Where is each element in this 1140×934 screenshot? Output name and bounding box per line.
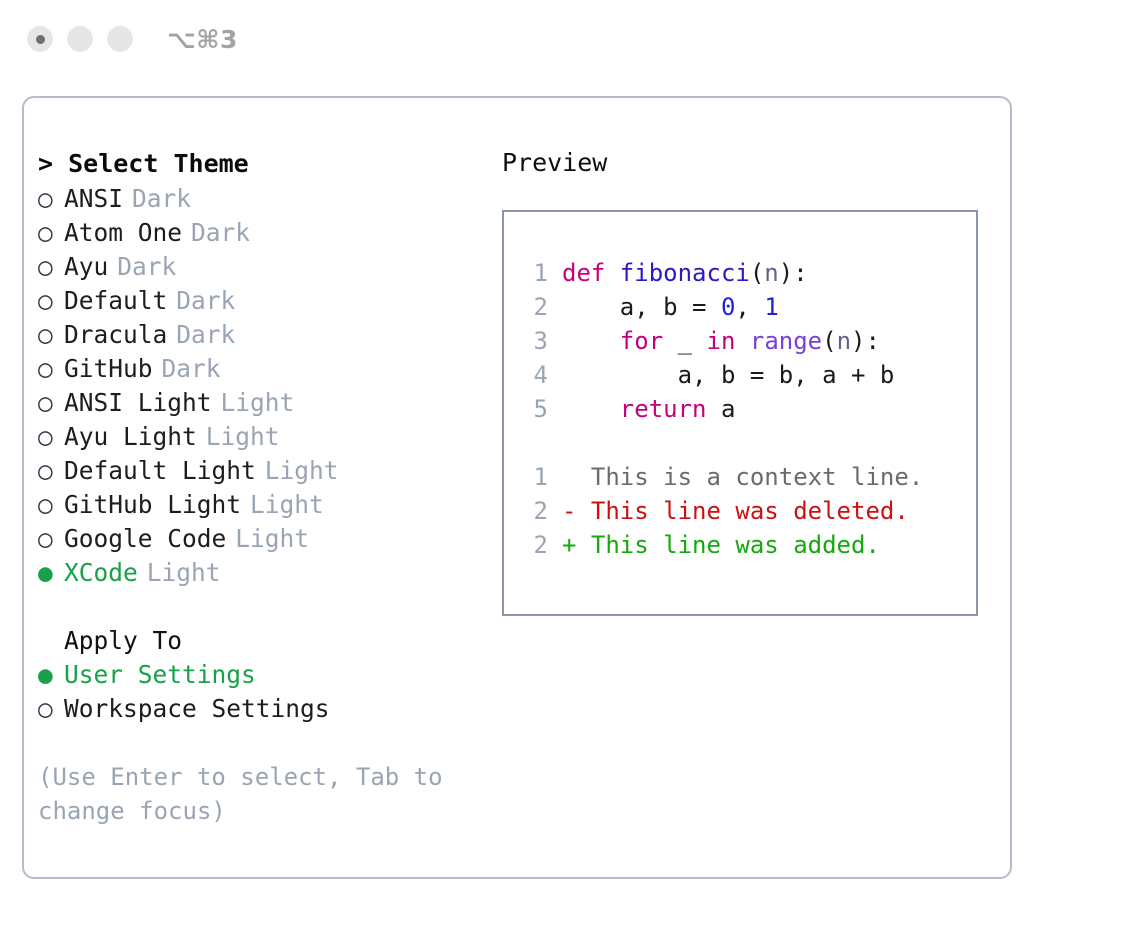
theme-option-default[interactable]: ○DefaultDark [38,284,508,318]
radio-selected-icon: ● [38,556,64,590]
app-window: ⌥⌘3 > Select Theme ○ANSIDark○Atom OneDar… [0,0,1140,934]
radio-unselected-icon: ○ [38,454,64,488]
line-number: 5 [520,392,548,426]
theme-name: ANSI Light [64,386,212,420]
radio-unselected-icon: ○ [38,488,64,522]
apply-to-label: Workspace Settings [64,692,330,726]
code-token: in [707,327,736,355]
theme-variant-tag: Light [250,488,324,522]
theme-option-github[interactable]: ○GitHubDark [38,352,508,386]
theme-variant-tag: Light [235,522,309,556]
diff-marker [562,463,591,491]
radio-unselected-icon: ○ [38,318,64,352]
theme-name: XCode [64,556,138,590]
code-token [735,327,749,355]
theme-variant-tag: Dark [176,318,235,352]
apply-to-label: User Settings [64,658,256,692]
select-theme-header: > Select Theme [38,146,508,182]
theme-variant-tag: Light [221,386,295,420]
theme-option-atom-one[interactable]: ○Atom OneDark [38,216,508,250]
radio-unselected-icon: ○ [38,522,64,556]
code-token [562,327,620,355]
code-token: return [620,395,707,423]
content-panel: > Select Theme ○ANSIDark○Atom OneDark○Ay… [22,96,1012,879]
theme-variant-tag: Light [147,556,221,590]
theme-option-ansi[interactable]: ○ANSIDark [38,182,508,216]
theme-option-xcode[interactable]: ●XCodeLight [38,556,508,590]
radio-unselected-icon: ○ [38,386,64,420]
theme-variant-tag: Light [206,420,280,454]
code-token: range [750,327,822,355]
theme-variant-tag: Dark [117,250,176,284]
theme-variant-tag: Dark [162,352,221,386]
code-token: a, b = [562,293,721,321]
code-token: def [562,259,620,287]
theme-name: Ayu [64,250,108,284]
line-number: 2 [520,528,548,562]
code-token: , [735,293,764,321]
preview-column: Preview 1def fibonacci(n):2 a, b = 0, 13… [502,146,1002,616]
apply-to-list: ●User Settings○Workspace Settings [38,658,508,726]
theme-name: ANSI [64,182,123,216]
window-dot-active[interactable] [27,26,53,52]
radio-selected-icon: ● [38,658,64,692]
code-token: _ [663,327,706,355]
theme-name: Ayu Light [64,420,197,454]
diff-marker: + [562,531,591,559]
theme-option-dracula[interactable]: ○DraculaDark [38,318,508,352]
code-line: 1def fibonacci(n): [520,256,976,290]
theme-variant-tag: Dark [191,216,250,250]
theme-name: Default [64,284,167,318]
theme-option-ayu[interactable]: ○AyuDark [38,250,508,284]
code-token: ): [851,327,880,355]
code-token: 1 [764,293,778,321]
theme-name: Atom One [64,216,182,250]
line-number: 1 [520,460,548,494]
title-bar: ⌥⌘3 [0,0,1140,78]
code-token: ( [822,327,836,355]
diff-line-ctx: 1 This is a context line. [520,460,976,494]
theme-option-github-light[interactable]: ○GitHub LightLight [38,488,508,522]
line-number: 3 [520,324,548,358]
theme-variant-tag: Dark [176,284,235,318]
line-number: 2 [520,494,548,528]
keyboard-hint-text: (Use Enter to select, Tab to change focu… [38,760,458,828]
keyboard-shortcut-label: ⌥⌘3 [167,25,238,54]
window-dot-active-inner [36,35,45,44]
code-line: 4 a, b = b, a + b [520,358,976,392]
theme-name: Dracula [64,318,167,352]
code-line: 2 a, b = 0, 1 [520,290,976,324]
theme-name: Google Code [64,522,226,556]
diff-text: This line was added. [591,531,880,559]
diff-text: This is a context line. [591,463,923,491]
window-dot-3[interactable] [107,26,133,52]
window-controls [27,26,133,52]
radio-unselected-icon: ○ [38,692,64,726]
radio-unselected-icon: ○ [38,182,64,216]
code-token: n [837,327,851,355]
theme-name: GitHub Light [64,488,241,522]
code-preview-box: 1def fibonacci(n):2 a, b = 0, 13 for _ i… [502,210,978,616]
apply-to-header: Apply To [38,624,508,658]
radio-unselected-icon: ○ [38,352,64,386]
apply-to-option-workspace-settings[interactable]: ○Workspace Settings [38,692,508,726]
code-token: a, b = b, a + b [562,361,894,389]
line-number: 2 [520,290,548,324]
theme-option-ayu-light[interactable]: ○Ayu LightLight [38,420,508,454]
code-token: 0 [721,293,735,321]
radio-unselected-icon: ○ [38,284,64,318]
diff-sample: 1 This is a context line.2- This line wa… [520,460,976,562]
code-token: ( [750,259,764,287]
theme-variant-tag: Light [265,454,339,488]
diff-line-add: 2+ This line was added. [520,528,976,562]
theme-variant-tag: Dark [132,182,191,216]
theme-option-ansi-light[interactable]: ○ANSI LightLight [38,386,508,420]
panel-columns: > Select Theme ○ANSIDark○Atom OneDark○Ay… [24,98,1010,877]
code-token: for [620,327,663,355]
radio-unselected-icon: ○ [38,420,64,454]
line-number: 1 [520,256,548,290]
theme-selector-column: > Select Theme ○ANSIDark○Atom OneDark○Ay… [38,146,508,828]
apply-to-option-user-settings[interactable]: ●User Settings [38,658,508,692]
diff-text: This line was deleted. [591,497,909,525]
code-token: a [707,395,736,423]
code-diff-spacer [520,426,976,460]
theme-option-google-code[interactable]: ○Google CodeLight [38,522,508,556]
code-token: n [764,259,778,287]
code-line: 5 return a [520,392,976,426]
code-sample: 1def fibonacci(n):2 a, b = 0, 13 for _ i… [520,256,976,426]
theme-option-default-light[interactable]: ○Default LightLight [38,454,508,488]
line-number: 4 [520,358,548,392]
code-token: fibonacci [620,259,750,287]
radio-unselected-icon: ○ [38,216,64,250]
theme-list: ○ANSIDark○Atom OneDark○AyuDark○DefaultDa… [38,182,508,590]
code-token [562,395,620,423]
code-token: ): [779,259,808,287]
theme-name: Default Light [64,454,256,488]
window-dot-2[interactable] [67,26,93,52]
theme-name: GitHub [64,352,153,386]
code-line: 3 for _ in range(n): [520,324,976,358]
radio-unselected-icon: ○ [38,250,64,284]
diff-marker: - [562,497,591,525]
diff-line-del: 2- This line was deleted. [520,494,976,528]
preview-title: Preview [502,146,1002,180]
